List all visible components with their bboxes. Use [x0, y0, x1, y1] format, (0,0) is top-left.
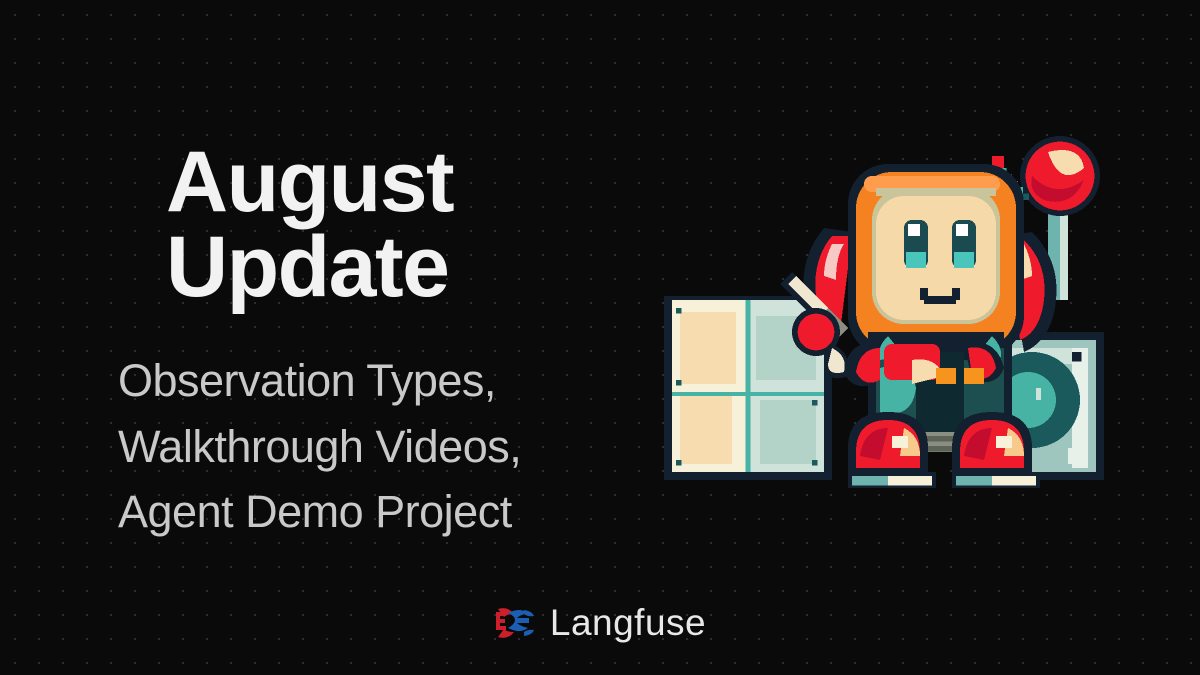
- pixel-robot-mascot: [648, 120, 1128, 520]
- robot-face-icon: [868, 188, 1004, 340]
- page-subtitle: Observation Types, Walkthrough Videos, A…: [118, 310, 638, 544]
- robot-arm-left-icon: [844, 344, 956, 387]
- page-title: August Update: [118, 140, 638, 310]
- text-block: August Update Observation Types, Walkthr…: [118, 140, 638, 544]
- brand-lockup: Langfuse: [0, 602, 1200, 644]
- brand-name: Langfuse: [550, 602, 706, 644]
- langfuse-logo-icon: [494, 606, 536, 640]
- august-update-banner: August Update Observation Types, Walkthr…: [0, 0, 1200, 675]
